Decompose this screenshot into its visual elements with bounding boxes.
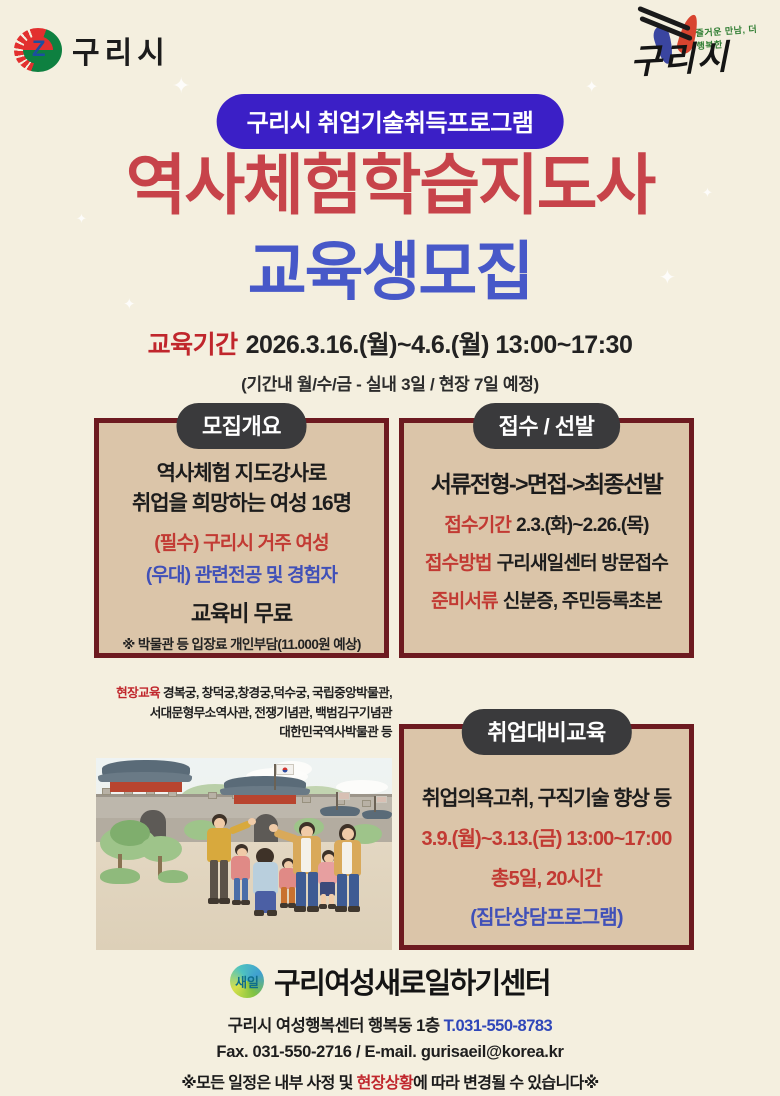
apply-row: 접수방법구리새일센터 방문접수 [414, 548, 679, 575]
application-selection-badge: 접수 / 선발 [473, 403, 621, 449]
page-title-line1: 역사체험학습지도사 [0, 150, 780, 221]
overview-note: ※ 박물관 등 입장료 개인부담(11.000원 예상) [109, 633, 374, 653]
program-pill: 구리시 취업기술취득프로그램 [217, 94, 564, 149]
disclaimer-post: 에 따라 변경될 수 있습니다※ [413, 1075, 599, 1092]
recruitment-overview-box: 모집개요 역사체험 지도강사로 취업을 희망하는 여성 16명 (필수) 구리시… [94, 418, 389, 658]
footer-disclaimer: ※모든 일정은 내부 사정 및 현장상황에 따라 변경될 수 있습니다※ [0, 1069, 780, 1093]
job-prep-training-box: 취업대비교육 취업의욕고취, 구직기술 향상 등 3.9.(월)~3.13.(금… [399, 724, 694, 950]
apply-row: 접수기간2.3.(화)~2.26.(목) [414, 510, 679, 537]
footer-brand: 새일 구리여성새로일하기센터 [0, 960, 780, 1002]
footer-fax-email[interactable]: Fax. 031-550-2716 / E-mail. gurisaeil@ko… [0, 1043, 780, 1062]
field-training-label: 현장교육 [116, 686, 160, 700]
apply-row-value: 신분증, 주민등록초본 [503, 591, 662, 612]
footer-address: 구리시 여성행복센터 행복동 1층 [228, 1017, 440, 1035]
brand-logo-label: 구리시 [629, 29, 731, 83]
apply-row: 준비서류신분증, 주민등록초본 [414, 586, 679, 613]
guri-city-emblem-icon: Z [14, 28, 62, 72]
job-prep-program: (집단상담프로그램) [414, 901, 679, 930]
city-logo-label: 구리시 [72, 28, 170, 72]
field-training-text: 현장교육 경복궁, 창덕궁,창경궁,덕수궁, 국립중앙박물관, 서대문형무소역사… [96, 684, 392, 743]
overview-required: (필수) 구리시 거주 여성 [109, 528, 374, 555]
footer: 새일 구리여성새로일하기센터 구리시 여성행복센터 행복동 1층 T.031-5… [0, 960, 780, 1093]
overview-preferred: (우대) 관련전공 및 경험자 [109, 560, 374, 587]
overview-headline-2: 취업을 희망하는 여성 16명 [109, 489, 374, 519]
disclaimer-pre: ※모든 일정은 내부 사정 및 [181, 1075, 356, 1092]
apply-row-value: 2.3.(화)~2.26.(목) [516, 515, 649, 536]
guri-brand-logo: 즐거운 만남, 더 행복한 구리시 [622, 8, 762, 86]
saeil-logo-icon: 새일 [230, 964, 264, 998]
training-period-sub: (기간내 월/수/금 - 실내 3일 / 현장 7일 예정) [0, 370, 780, 395]
recruitment-overview-badge: 모집개요 [176, 403, 307, 449]
apply-row-value: 구리새일센터 방문접수 [497, 553, 668, 574]
field-training-line1: 경복궁, 창덕궁,창경궁,덕수궁, 국립중앙박물관, [163, 686, 392, 700]
job-prep-headline: 취업의욕고취, 구직기술 향상 등 [414, 781, 679, 811]
sparkle-icon: ✦ [585, 80, 598, 96]
fortress-family-illustration [96, 758, 392, 950]
job-prep-training-badge: 취업대비교육 [461, 709, 631, 755]
apply-row-key: 준비서류 [431, 591, 498, 612]
apply-row-key: 접수방법 [425, 553, 492, 574]
training-period: 교육기간2026.3.16.(월)~4.6.(월) 13:00~17:30 [0, 325, 780, 361]
korean-flag-icon [276, 764, 294, 775]
city-logo: Z 구리시 [14, 28, 170, 72]
korean-flag-icon [376, 796, 387, 803]
selection-flow: 서류전형->면접->최종선발 [414, 465, 679, 499]
disclaimer-highlight: 현장상황 [357, 1075, 413, 1092]
overview-fee: 교육비 무료 [109, 596, 374, 628]
korean-flag-icon [338, 792, 350, 800]
training-period-value: 2026.3.16.(월)~4.6.(월) 13:00~17:30 [246, 331, 633, 359]
job-prep-schedule: 3.9.(월)~3.13.(금) 13:00~17:00 [414, 822, 679, 851]
footer-tel[interactable]: T.031-550-8783 [444, 1017, 553, 1035]
application-selection-box: 접수 / 선발 서류전형->면접->최종선발 접수기간2.3.(화)~2.26.… [399, 418, 694, 658]
field-training-line3: 대한민국역사박물관 등 [279, 725, 392, 739]
job-prep-total: 총5일, 20시간 [414, 862, 679, 891]
footer-address-line: 구리시 여성행복센터 행복동 1층 T.031-550-8783 [0, 1012, 780, 1036]
center-name: 구리여성새로일하기센터 [274, 960, 550, 1002]
sparkle-icon: ✦ [172, 75, 190, 97]
field-training-line2: 서대문형무소역사관, 전쟁기념관, 백범김구기념관 [150, 706, 392, 720]
apply-row-key: 접수기간 [444, 515, 511, 536]
training-period-label: 교육기간 [148, 331, 238, 359]
poster-root: ✦ ✦ ✦ ✦ ✦ ✦ Z 구리시 즐거운 만남, 더 행복한 구리시 구리시 … [0, 0, 780, 1096]
overview-headline-1: 역사체험 지도강사로 [109, 459, 374, 489]
page-title-line2: 교육생모집 [0, 238, 780, 307]
